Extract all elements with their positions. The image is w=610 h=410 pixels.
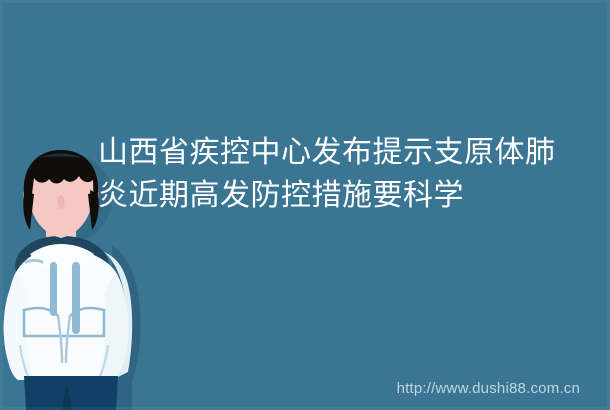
trousers xyxy=(24,376,118,410)
page-title-line-2: 炎近期高发防控措施要科学 xyxy=(98,174,590,217)
page-title-line-1: 山西省疾控中心发布提示支原体肺 xyxy=(98,131,590,174)
watermark-url: http://www.dushi88.com.cn xyxy=(397,380,580,397)
article-cover-image: 山西省疾控中心发布提示支原体肺 炎近期高发防控措施要科学 http://www.… xyxy=(0,0,610,410)
page-title: 山西省疾控中心发布提示支原体肺 炎近期高发防控措施要科学 xyxy=(98,131,590,217)
